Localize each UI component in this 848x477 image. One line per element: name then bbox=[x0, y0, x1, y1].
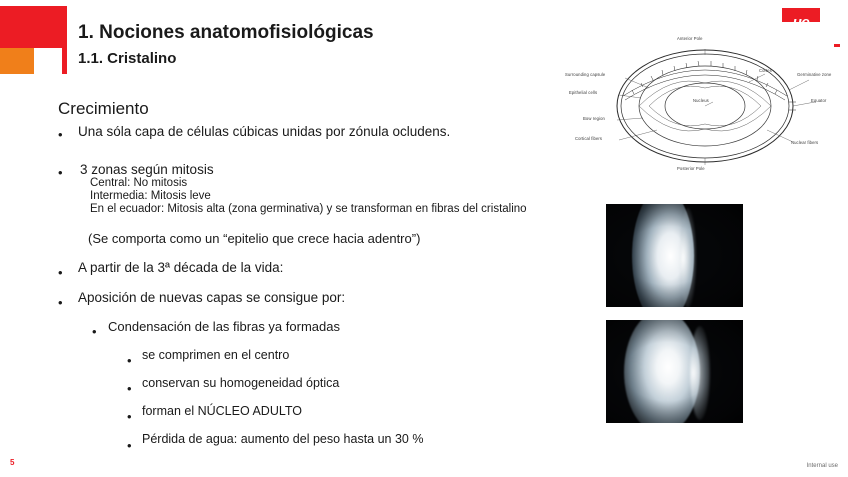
diagram-label-nucleus: Nucleus bbox=[693, 98, 709, 103]
body-line-2: 3 zonas según mitosis bbox=[80, 162, 214, 177]
diagram-label-equator: Equator bbox=[811, 98, 826, 103]
page-subtitle: 1.1. Cristalino bbox=[78, 50, 176, 67]
body-line-4-sub-1-1: se comprimen en el centro bbox=[142, 348, 289, 362]
slide: ue 1. Nociones anatomofisiológicas 1.1. … bbox=[0, 0, 848, 477]
diagram-label-germinative-zone: Germinative zone bbox=[797, 72, 831, 77]
decorative-red-block bbox=[0, 6, 62, 48]
diagram-label-nuclear-fibers: Nuclear fibers bbox=[791, 140, 818, 145]
slit-lamp-lens-photo-2 bbox=[606, 320, 743, 423]
page-title: 1. Nociones anatomofisiológicas bbox=[78, 22, 374, 44]
diagram-label-posterior-pole: Posterior Pole bbox=[677, 166, 705, 171]
body-line-4-sub-1-4: Pérdida de agua: aumento del peso hasta … bbox=[142, 432, 423, 446]
diagram-label-cortical-fibers: Cortical fibers bbox=[575, 136, 602, 141]
body-line-1: Una sóla capa de células cúbicas unidas … bbox=[78, 124, 450, 139]
bullet-marker: • bbox=[127, 382, 132, 395]
decorative-orange-block bbox=[0, 48, 34, 74]
title-accent-bar bbox=[62, 6, 67, 74]
slit-lamp-lens-photo-1 bbox=[606, 204, 743, 307]
diagram-label-bow-region: Bow region bbox=[583, 116, 605, 121]
bullet-marker: • bbox=[127, 439, 132, 452]
bullet-marker: • bbox=[92, 325, 97, 338]
photo-vignette bbox=[606, 320, 743, 423]
body-line-2-sub-1: Central: No mitosis bbox=[90, 177, 187, 189]
page-number: 5 bbox=[10, 458, 14, 467]
section-title: Crecimiento bbox=[58, 99, 149, 119]
lens-anatomy-diagram: Anterior Pole Surrounding capsule Epithe… bbox=[553, 22, 834, 188]
footer-note: Internal use bbox=[807, 463, 838, 469]
body-line-3: A partir de la 3ª década de la vida: bbox=[78, 260, 283, 275]
body-line-4: Aposición de nuevas capas se consigue po… bbox=[78, 290, 345, 305]
photo-vignette bbox=[606, 204, 743, 307]
body-line-2-sub-2: Intermedia: Mitosis leve bbox=[90, 190, 211, 202]
diagram-label-anterior-pole: Anterior Pole bbox=[677, 36, 703, 41]
bullet-marker: • bbox=[58, 296, 63, 309]
lens-diagram-svg bbox=[553, 22, 834, 188]
bullet-marker: • bbox=[127, 354, 132, 367]
body-line-4-sub-1-3: forman el NÚCLEO ADULTO bbox=[142, 404, 302, 418]
diagram-label-surrounding-capsule: Surrounding capsule bbox=[565, 72, 605, 77]
bullet-marker: • bbox=[58, 128, 63, 141]
body-line-4-sub-1: Condensación de las fibras ya formadas bbox=[108, 319, 340, 334]
bullet-marker: • bbox=[58, 266, 63, 279]
body-line-4-sub-1-2: conservan su homogeneidad óptica bbox=[142, 376, 339, 390]
body-line-2-note: (Se comporta como un “epitelio que crece… bbox=[88, 231, 420, 246]
body-line-2-sub-3: En el ecuador: Mitosis alta (zona germin… bbox=[90, 203, 527, 215]
diagram-label-epithelial-cells: Epithelial cells bbox=[569, 90, 597, 95]
bullet-marker: • bbox=[127, 410, 132, 423]
bullet-marker: • bbox=[58, 166, 63, 179]
diagram-label-cortex: Cortex bbox=[759, 68, 772, 73]
